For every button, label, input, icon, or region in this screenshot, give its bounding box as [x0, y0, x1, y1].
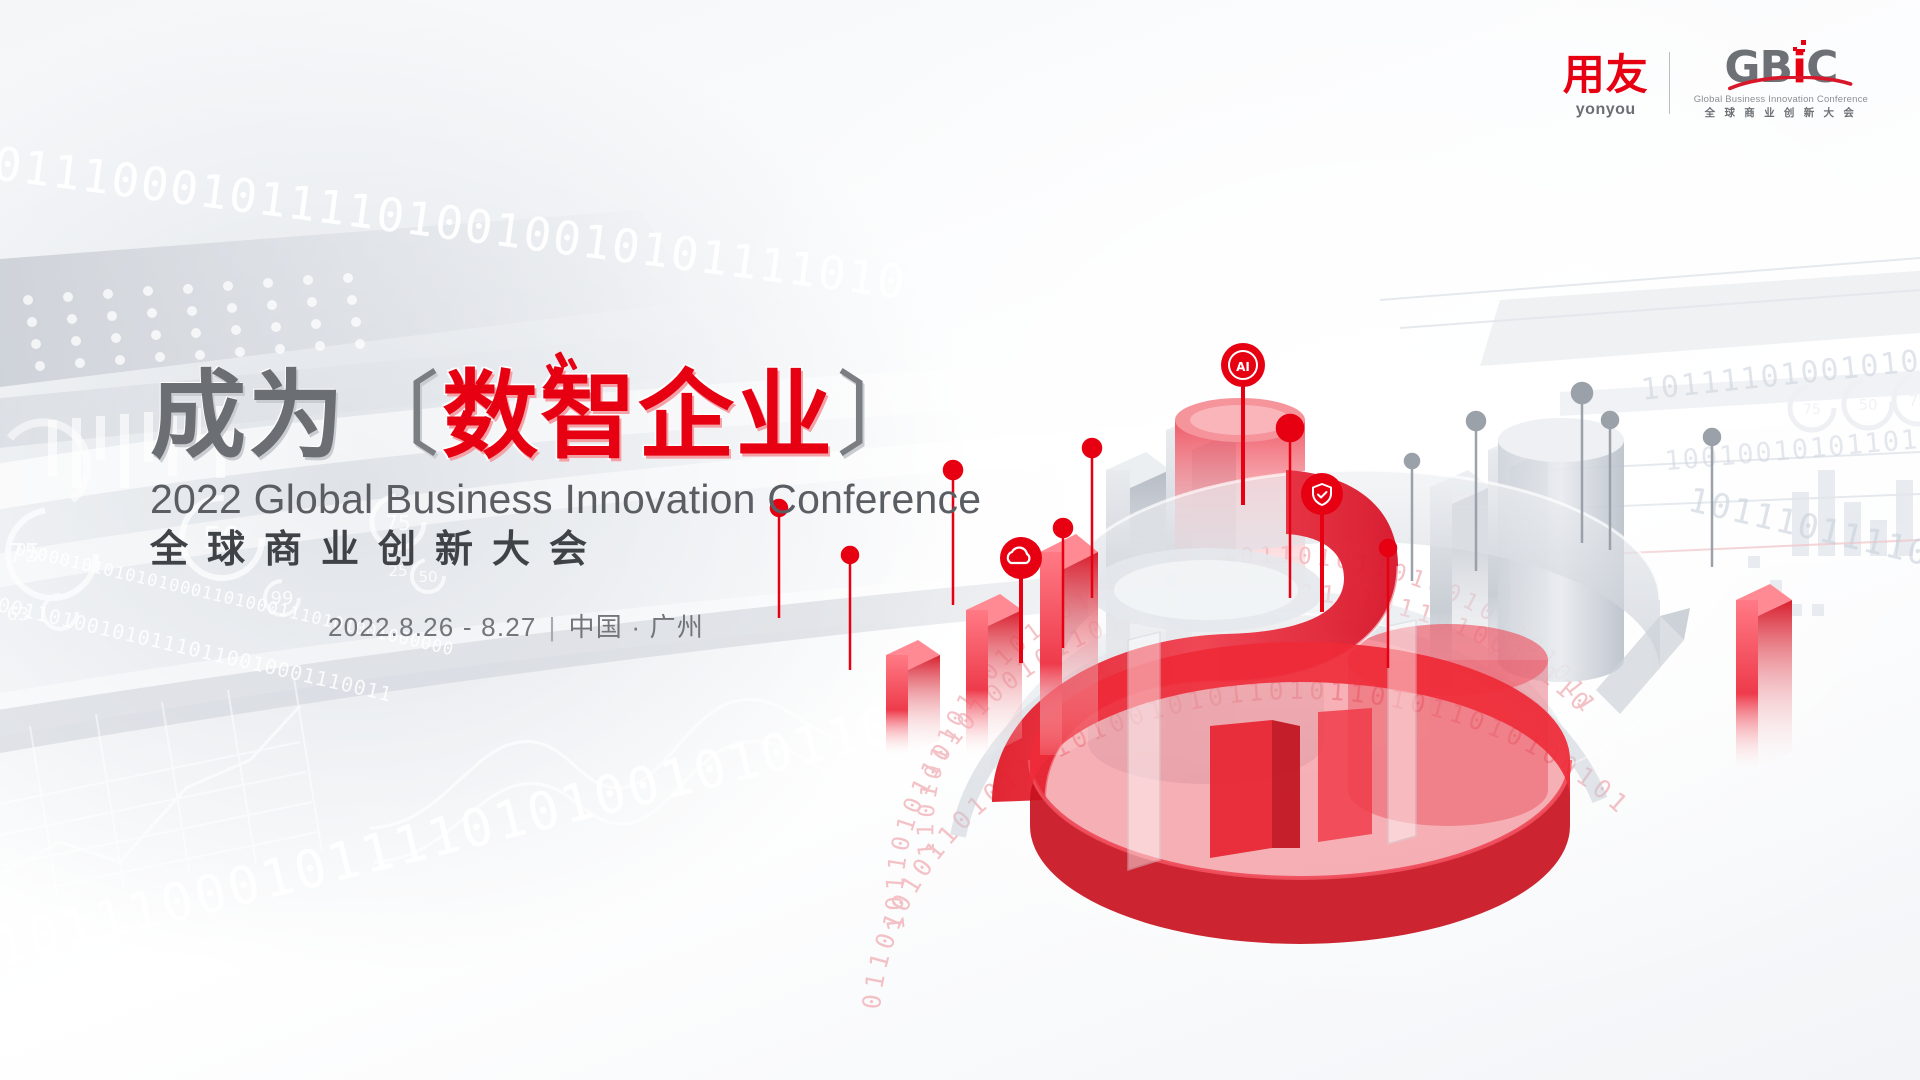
gauge-ring [1894, 376, 1920, 424]
ai-badge-icon: AI [1236, 360, 1250, 374]
gbic-tagline-cn: 全 球 商 业 创 新 大 会 [1705, 108, 1857, 119]
dot-grid [23, 273, 365, 371]
cloud-icon [1008, 548, 1030, 563]
gauge-value: 75 [7, 539, 40, 569]
glass-panels [1128, 620, 1416, 870]
gbic-tagline-en: Global Business Innovation Conference [1694, 95, 1868, 105]
pin-marker-group-gray [1405, 383, 1720, 581]
page-title: 成为〔数智企业〕 [150, 368, 940, 464]
gauge-ring [8, 510, 96, 598]
pin-grey-3 [1602, 412, 1618, 550]
title-prefix: 成为 [150, 368, 346, 464]
gbic-logo[interactable]: G B i C Global Business Innovation Confe… [1694, 46, 1868, 118]
pin-ai: AI [1221, 343, 1265, 505]
gauge-value: 75 [1908, 392, 1920, 410]
binary-stream: 100100101011011101 [1663, 418, 1920, 478]
svg-text:110101101001011010110100101101: 1101011010010110101101001011010110100101… [913, 543, 1602, 858]
gauge-value: 75 [1803, 402, 1821, 418]
event-meta: 2022.8.26 - 8.27|中国 · 广州 [328, 607, 940, 644]
binary-stream: 10111101001010110111 [1639, 331, 1920, 408]
logo-divider [1669, 52, 1670, 114]
binary-arc-ring: 0110101011010110101001010110101101011010… [857, 543, 1700, 1011]
area-chart [370, 699, 864, 862]
pin-shield [1301, 473, 1343, 612]
pin-dot-5 [1380, 540, 1396, 668]
pin-grey-2 [1467, 412, 1485, 571]
subtitle-en: 2022 Global Business Innovation Conferen… [150, 478, 940, 521]
yonyou-wordmark: yonyou [1576, 102, 1636, 118]
gbic-acronym: G B i C [1724, 46, 1837, 90]
bar-3d-red [886, 534, 1792, 770]
yonyou-logo[interactable]: 用友 yonyou [1563, 54, 1649, 118]
cylinder-core-glass [1088, 548, 1324, 784]
cylinder-red-mid [1348, 624, 1548, 826]
ring-platform-red [1030, 642, 1570, 944]
bar-right [1792, 470, 1913, 556]
pin-cloud [1000, 537, 1042, 663]
gauge-ring [1790, 386, 1834, 430]
event-location: 中国 · 广州 [569, 612, 705, 642]
binary-stream: 1011101111011000 [1684, 480, 1920, 600]
binary-stream: 0111000101111010010010101111010 [0, 136, 910, 310]
bracket-open: 〔 [348, 370, 440, 462]
bar-3d-gray [1106, 410, 1548, 755]
gauge-value: 50 [1858, 396, 1877, 414]
logo-lockup: 用友 yonyou G B i C Global Business Innova… [1563, 46, 1868, 118]
svg-text:011010101101011010100101011010: 0110101011010110101001010110101101011010… [857, 676, 1637, 1011]
shield-check-icon [1313, 484, 1331, 505]
pin-dot-3 [1054, 519, 1072, 648]
cylinder-red-top [1175, 398, 1305, 647]
gbic-swoosh-icon [1728, 76, 1852, 92]
pin-grey-5 [1405, 454, 1419, 581]
meta-separator: | [549, 612, 557, 642]
pin-grey-4 [1704, 429, 1720, 567]
subtitle-cn: 全球商业创新大会 [150, 529, 940, 571]
pin-dot-2 [1277, 415, 1303, 598]
svg-text:101101011010100101101011010010: 1011010110101001011010110100101101011010… [881, 578, 1598, 932]
headline-block: 成为〔数智企业〕 2022 Global Business Innovation… [150, 368, 940, 644]
gauge-ring [1844, 380, 1892, 428]
red-s-ribbon [992, 470, 1398, 802]
ring-platform-gray [1060, 470, 1660, 802]
line-chart-grid [0, 678, 322, 900]
gbic-spark-dots [1789, 40, 1811, 58]
event-date: 2022.8.26 - 8.27 [328, 612, 537, 642]
pin-grey-1 [1572, 383, 1592, 543]
gauge-ring [43, 595, 77, 629]
bracket-close: 〕 [836, 370, 928, 462]
arrow-accent [1596, 608, 1690, 714]
gauge-value: 63 [7, 604, 30, 625]
cylinder-gray-tall [1498, 418, 1624, 682]
binary-stream: 1011100010111101010010101101101 [0, 662, 1035, 978]
conference-key-visual: 0111000101111010010010101111010 01000101… [0, 0, 1920, 1080]
title-emphasis: 数智企业 [442, 368, 834, 464]
yonyou-mark: 用友 [1563, 54, 1649, 96]
pin-dot-1 [1083, 439, 1101, 598]
ribbon-notch-blocks [1210, 708, 1372, 858]
